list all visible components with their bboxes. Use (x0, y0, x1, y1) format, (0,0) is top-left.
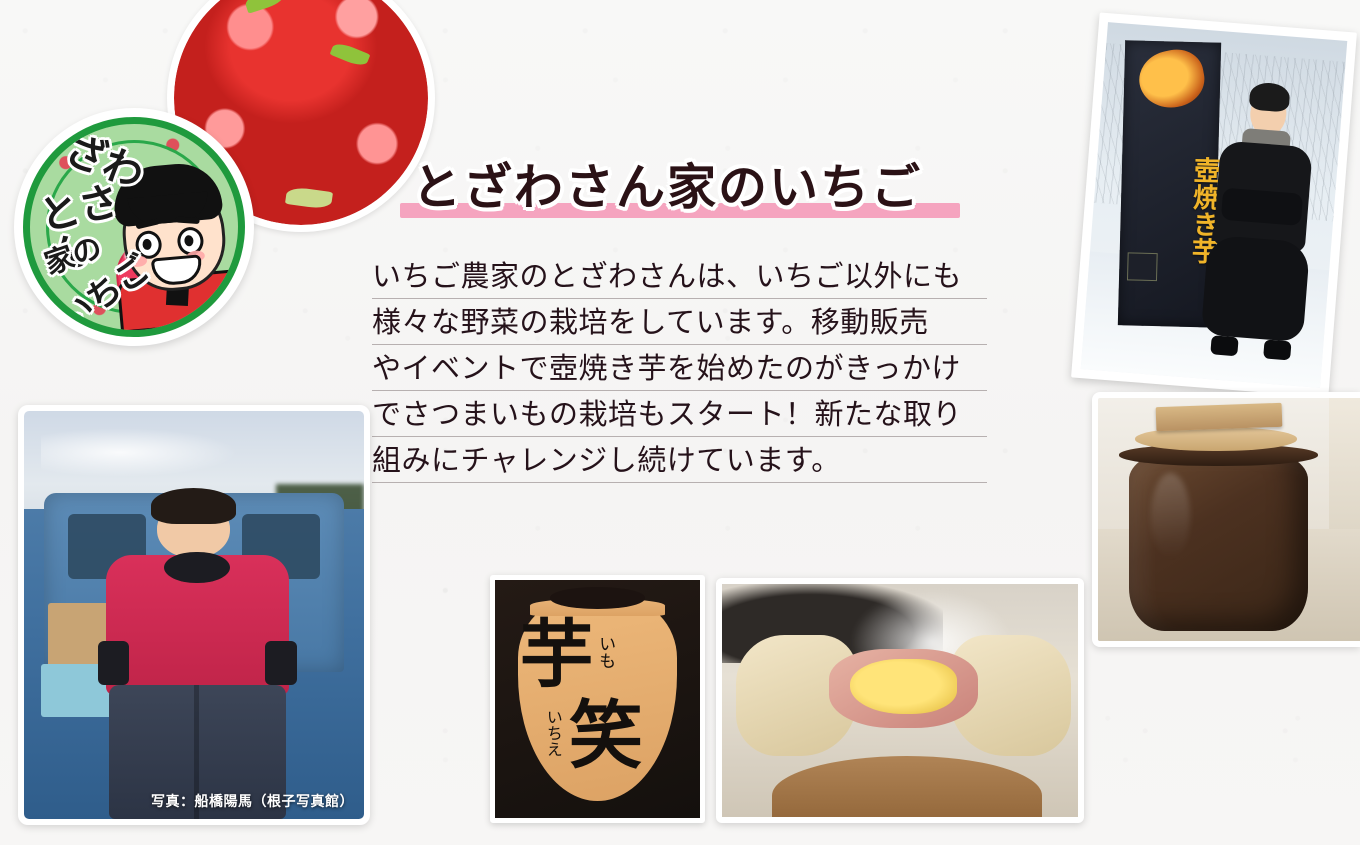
body-line: やイベントで壺焼き芋を始めたのがきっかけ (372, 345, 987, 391)
logo-handwritten-text: ざわ とさん 家の いちご (29, 136, 168, 346)
page-title: とざわさん家のいちご (412, 148, 922, 219)
roasted-potato-icon (1135, 44, 1210, 112)
sign-furigana-ichie: いちえ (544, 709, 562, 757)
body-line: いちご農家のとざわさんは、いちご以外にも (372, 253, 987, 299)
banner-image: 壺焼き芋 (1081, 22, 1348, 388)
strawberry-leaf-icon (243, 0, 286, 14)
farmer-standing (1198, 87, 1324, 359)
strawberry-leaf-icon (330, 41, 371, 69)
sign-furigana-imo: いも (595, 635, 614, 669)
heading-block: とざわさん家のいちご (400, 148, 980, 226)
page-root: ざわ とさん 家の いちご とざわさん家のいちご いちご農家のとざわさんは、いち… (0, 0, 1360, 845)
pot-rim (550, 587, 644, 608)
truck-image (24, 411, 364, 819)
split-sweet-potato (829, 649, 979, 728)
sweet-potato-image (722, 584, 1078, 817)
sign-kanji-imo: 芋 (520, 618, 594, 692)
logo-ring: ざわ とさん 家の いちご (14, 108, 254, 347)
farmer-seated (106, 501, 290, 819)
imosho-sign-photo: 芋 いも 笑 いちえ (490, 575, 705, 823)
imosho-sign-image: 芋 いも 笑 いちえ (495, 580, 700, 818)
body-line: でさつまいもの栽培もスタート！新たな取り (372, 391, 987, 437)
truck-photo: 写真：船橋陽馬（根子写真館） (18, 405, 370, 825)
banner-seal-icon (1127, 252, 1159, 280)
strawberry-leaf-icon (285, 186, 333, 210)
clay-pot-foreground (772, 756, 1043, 817)
wooden-plank (1155, 403, 1282, 432)
body-copy: いちご農家のとざわさんは、いちご以外にも 様々な野菜の栽培をしています。移動販売… (372, 253, 987, 483)
body-line: 組みにチャレンジし続けています。 (372, 437, 987, 483)
photo-credit: 写真：船橋陽馬（根子写真館） (151, 791, 354, 811)
clay-pot-image (1098, 398, 1360, 641)
clay-pot-photo (1092, 392, 1360, 647)
banner-photo: 壺焼き芋 (1071, 12, 1357, 397)
wall-background (1329, 398, 1360, 534)
sign-kanji-sho: 笑 (569, 699, 643, 773)
body-line: 様々な野菜の栽培をしています。移動販売 (372, 299, 987, 345)
brand-logo-badge: ざわ とさん 家の いちご (4, 98, 264, 356)
sweet-potato-photo (716, 578, 1084, 823)
clay-jar (1129, 451, 1307, 631)
